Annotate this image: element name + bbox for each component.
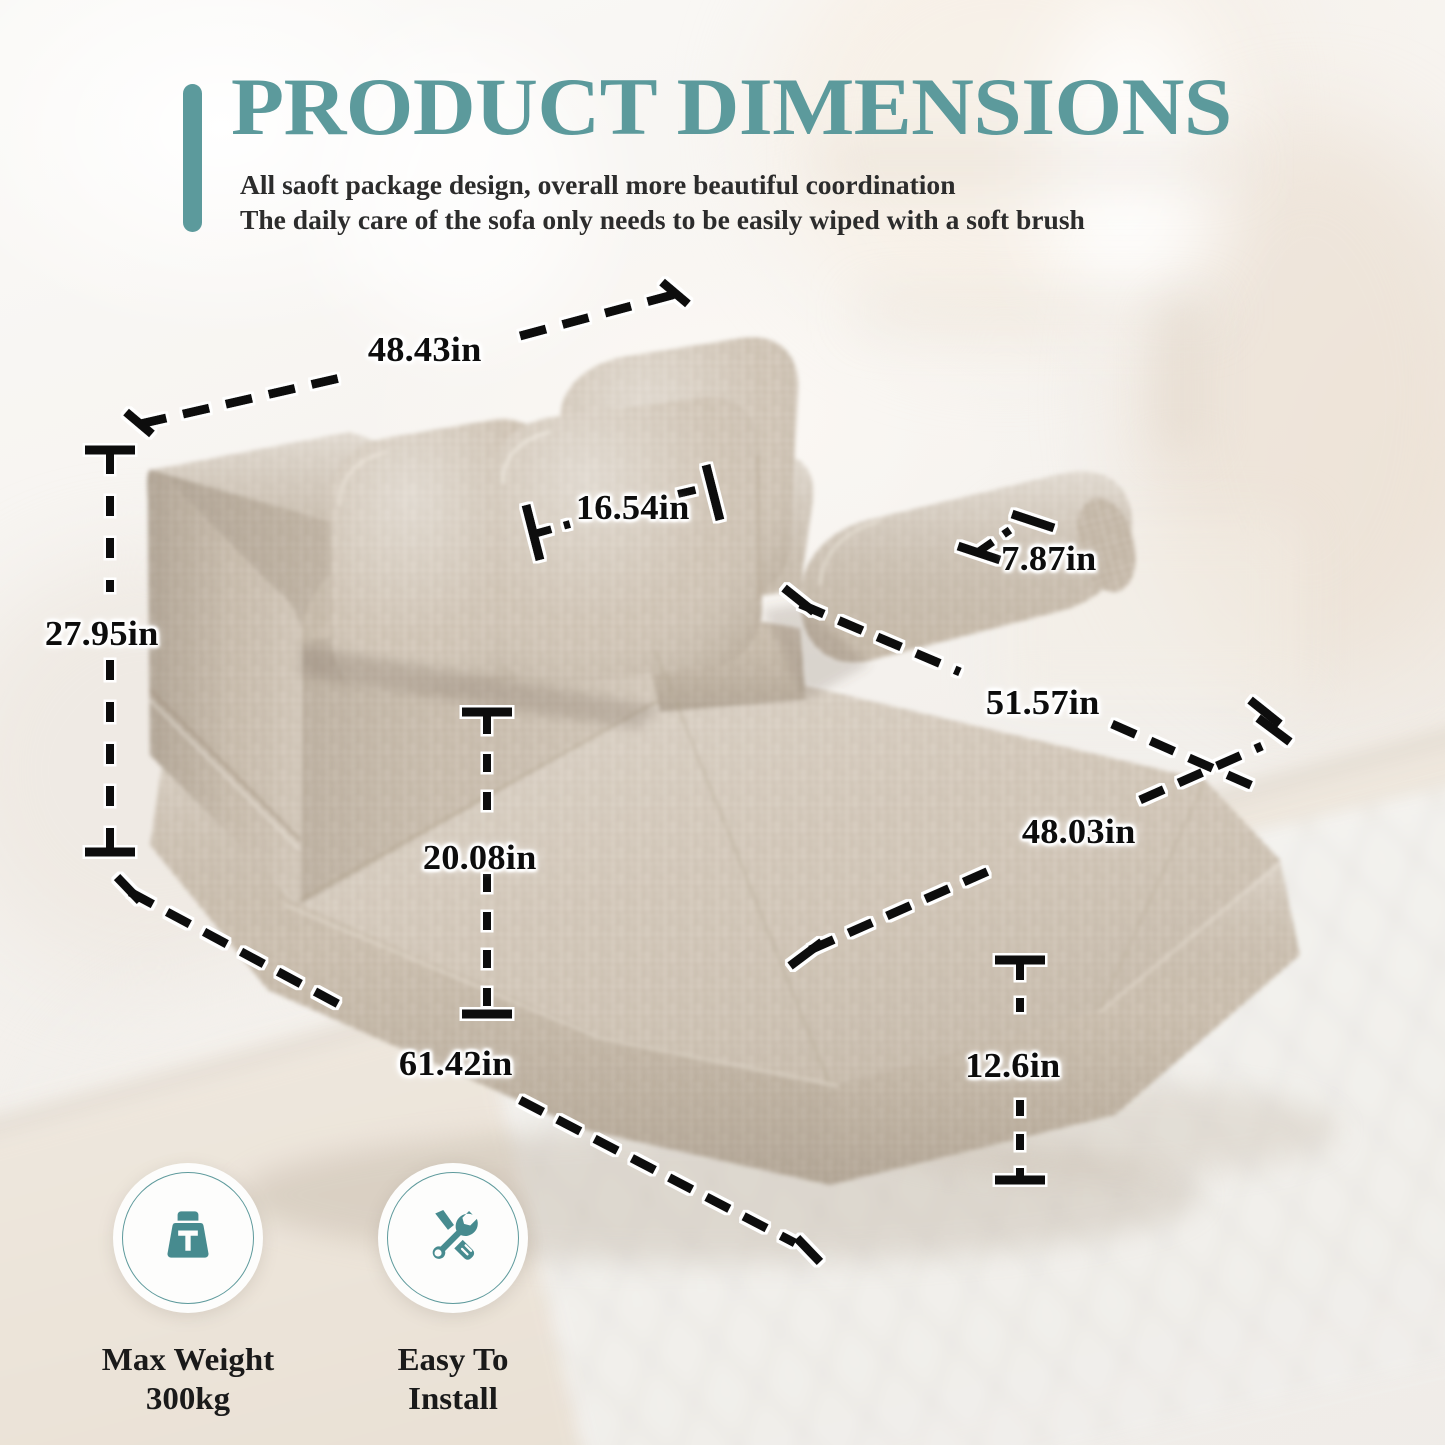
feature-badge-easy-install: [378, 1163, 528, 1313]
feature-caption-line2: 300kg: [70, 1379, 307, 1418]
dim-label-seat-depth: 51.57in: [986, 683, 1100, 723]
feature-caption-line2: Install: [335, 1379, 572, 1418]
dim-label-overall-length: 61.42in: [399, 1044, 513, 1084]
feature-caption-max-weight: Max Weight 300kg: [70, 1340, 307, 1418]
weight-icon: [151, 1201, 225, 1275]
feature-caption-line1: Max Weight: [70, 1340, 307, 1379]
dim-label-seat-width: 48.03in: [1022, 812, 1136, 852]
tools-icon: [415, 1200, 491, 1276]
dim-label-backrest-width: 48.43in: [368, 330, 482, 370]
dim-label-base-height: 12.6in: [965, 1046, 1060, 1086]
subtitle-line-2: The daily care of the sofa only needs to…: [240, 203, 1382, 238]
feature-caption-easy-install: Easy To Install: [335, 1340, 572, 1418]
dim-label-pillow-size: 16.54in: [576, 488, 690, 528]
infographic-canvas: PRODUCT DIMENSIONS All saoft package des…: [0, 0, 1445, 1445]
feature-badge-max-weight: [113, 1163, 263, 1313]
dim-label-seat-height: 20.08in: [423, 838, 537, 878]
page-title: PRODUCT DIMENSIONS: [231, 66, 1397, 148]
dim-label-overall-height: 27.95in: [45, 614, 159, 654]
feature-caption-line1: Easy To: [335, 1340, 572, 1379]
subtitle-line-1: All saoft package design, overall more b…: [240, 168, 1382, 203]
title-accent-bar: [183, 84, 202, 232]
dim-label-armrest-height: 7.87in: [1001, 539, 1096, 579]
